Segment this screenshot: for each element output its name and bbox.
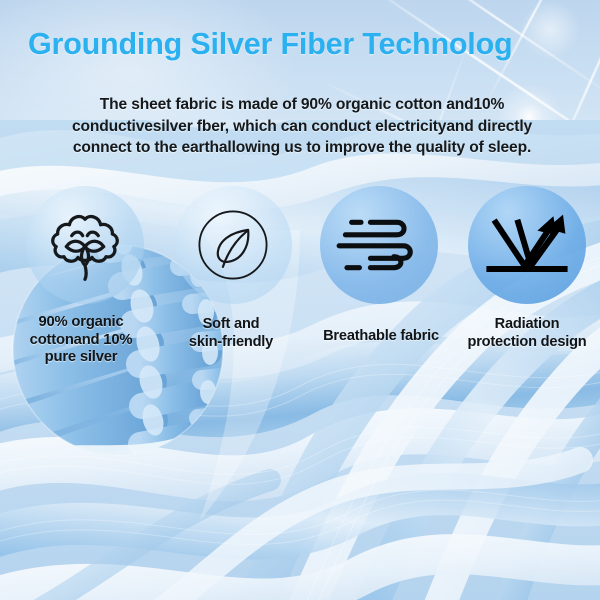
caption-line-1: Radiation — [452, 316, 600, 334]
caption-line-1: 90% organic — [6, 314, 156, 332]
radiation-reflection-icon — [483, 206, 571, 284]
caption-line-1: Breathable fabric — [306, 328, 456, 346]
caption-line-2: cottonand 10% — [6, 332, 156, 350]
feature-icon-circle — [174, 186, 292, 304]
description-line-2: conductivesilver fber, which can conduct… — [14, 116, 590, 138]
caption-line-2: skin-friendly — [156, 334, 306, 352]
description-line-3: connect to the earthallowing us to impro… — [14, 137, 590, 159]
page-title: Grounding Silver Fiber Technolog — [28, 27, 600, 62]
feature-row: 90% organic cottonand 10% pure silver So… — [0, 186, 600, 376]
caption-line-1: Soft and — [156, 316, 306, 334]
description-line-1: The sheet fabric is made of 90% organic … — [14, 94, 590, 116]
description-paragraph: The sheet fabric is made of 90% organic … — [14, 94, 590, 159]
feature-caption: Soft and skin-friendly — [156, 316, 306, 351]
product-infographic-poster: Grounding Silver Fiber Technolog The she… — [0, 0, 600, 600]
feature-caption: Radiation protection design — [452, 316, 600, 351]
caption-line-3: pure silver — [6, 349, 156, 367]
feature-icon-circle — [320, 186, 438, 304]
feature-icon-circle — [468, 186, 586, 304]
feature-caption: 90% organic cottonand 10% pure silver — [6, 314, 156, 367]
feature-caption: Breathable fabric — [306, 328, 456, 346]
leaf-in-circle-icon — [191, 203, 275, 287]
feature-icon-circle — [26, 186, 144, 304]
wind-lines-icon — [336, 211, 422, 279]
caption-line-2: protection design — [452, 334, 600, 352]
cotton-boll-icon — [46, 206, 124, 284]
